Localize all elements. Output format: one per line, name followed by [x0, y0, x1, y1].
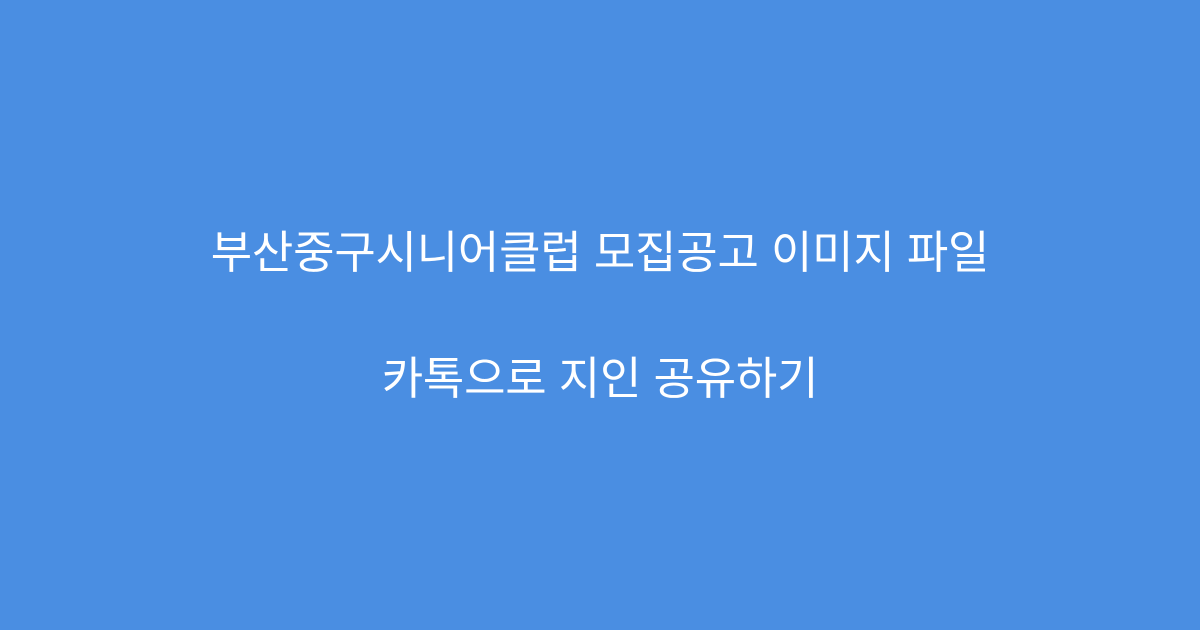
page-title-line-2: 카톡으로 지인 공유하기: [60, 347, 1140, 410]
thumbnail-card: 부산중구시니어클럽 모집공고 이미지 파일 카톡으로 지인 공유하기: [0, 0, 1200, 630]
page-title-line-1: 부산중구시니어클럽 모집공고 이미지 파일: [60, 221, 1140, 284]
page-title: 부산중구시니어클럽 모집공고 이미지 파일 카톡으로 지인 공유하기: [0, 158, 1200, 473]
